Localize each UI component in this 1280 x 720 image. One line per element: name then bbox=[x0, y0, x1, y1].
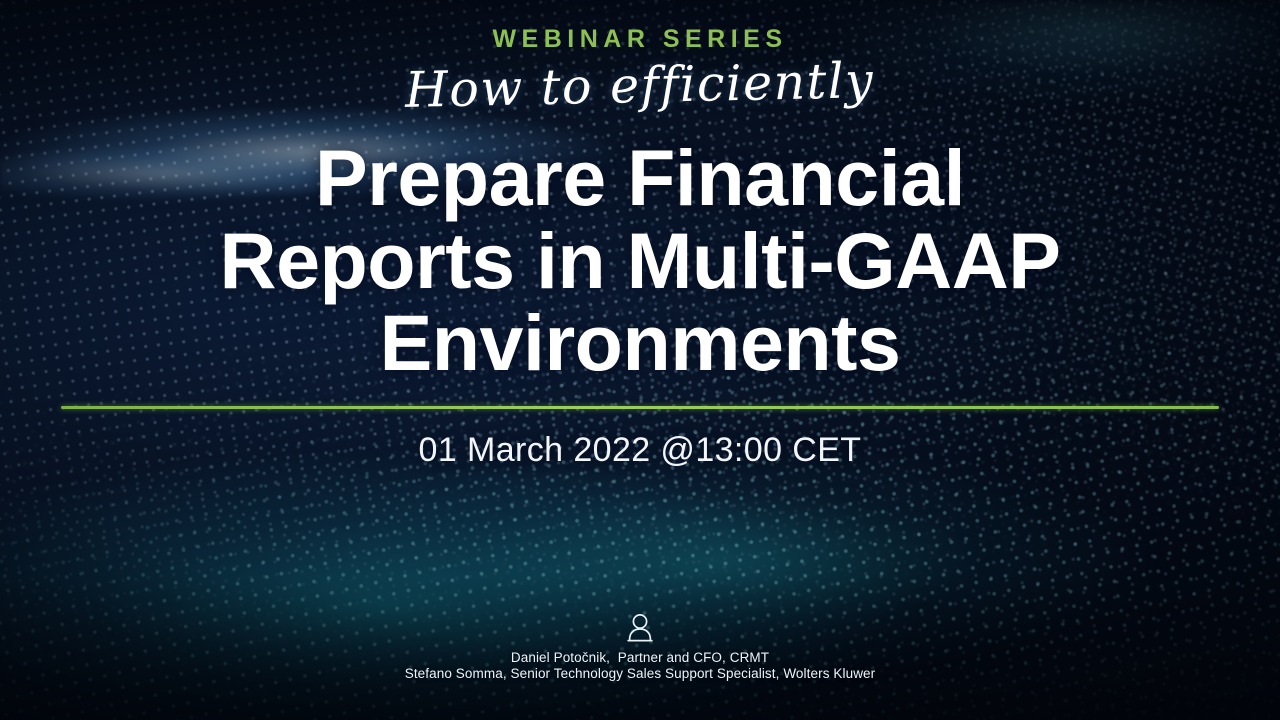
webinar-title-slide: WEBINAR SERIES How to efficiently Prepar… bbox=[0, 0, 1280, 720]
webinar-series-eyebrow: WEBINAR SERIES bbox=[492, 27, 787, 52]
event-date-time: 01 March 2022 @13:00 CET bbox=[419, 431, 862, 470]
title-line-1: Prepare Financial bbox=[60, 137, 1220, 219]
speakers-block: Daniel Potočnik, Partner and CFO, CRMT S… bbox=[0, 612, 1280, 682]
speaker-line-2: Stefano Somma, Senior Technology Sales S… bbox=[405, 666, 876, 682]
green-divider bbox=[61, 406, 1219, 409]
slide-content: WEBINAR SERIES How to efficiently Prepar… bbox=[0, 0, 1280, 720]
script-tagline: How to efficiently bbox=[405, 55, 875, 116]
title-line-3: Environments bbox=[60, 302, 1220, 384]
title-line-2: Reports in Multi-GAAP bbox=[60, 220, 1220, 302]
person-icon bbox=[625, 612, 655, 646]
speaker-line-1: Daniel Potočnik, Partner and CFO, CRMT bbox=[511, 650, 769, 666]
page-title: Prepare Financial Reports in Multi-GAAP … bbox=[60, 137, 1220, 383]
